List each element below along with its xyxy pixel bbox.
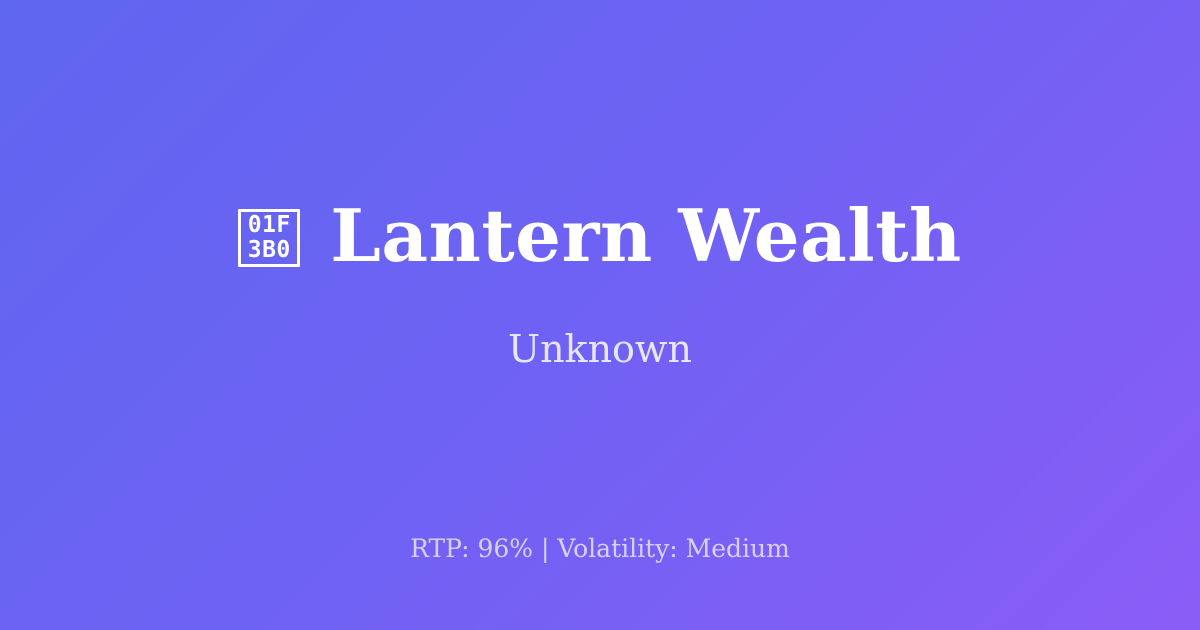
page-title: Lantern Wealth xyxy=(330,197,961,275)
tofu-codepoint-row-bottom: 3B0 xyxy=(248,238,291,263)
game-meta-line: RTP: 96% | Volatility: Medium xyxy=(410,534,790,564)
og-preview-card: 01F 3B0 Lantern Wealth Unknown RTP: 96% … xyxy=(0,0,1200,630)
card-footer: RTP: 96% | Volatility: Medium xyxy=(0,534,1200,564)
title-row: 01F 3B0 Lantern Wealth xyxy=(238,197,961,275)
slot-machine-emoji-tofu-icon: 01F 3B0 xyxy=(238,209,300,267)
page-subtitle: Unknown xyxy=(508,327,692,373)
tofu-codepoint-row-top: 01F xyxy=(248,213,291,238)
